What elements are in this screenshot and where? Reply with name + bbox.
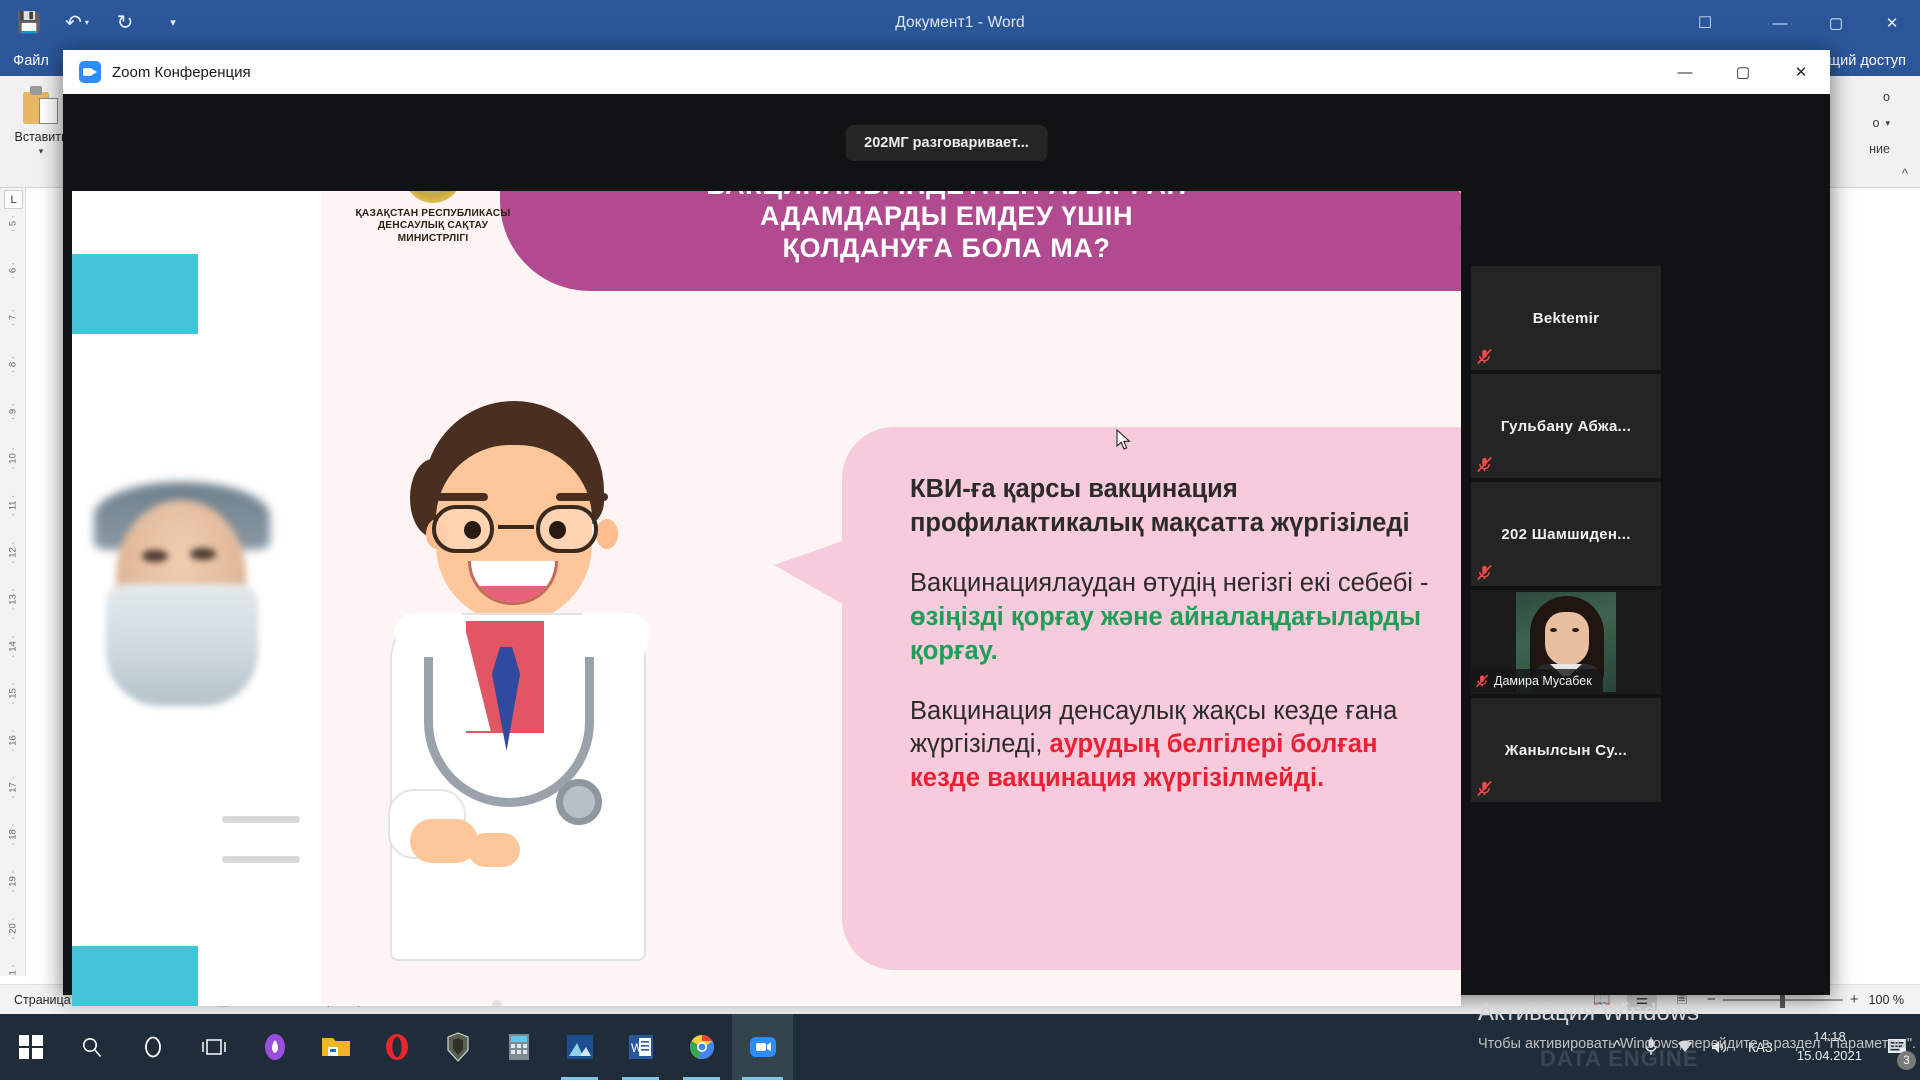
- cortana-icon[interactable]: [122, 1014, 183, 1080]
- zoom-meeting-window: Zoom Конференция — ▢ ✕ 202МГ разговарива…: [63, 50, 1830, 995]
- ruler-tick: · 14 ·: [8, 634, 19, 660]
- ruler-tick: · 20 ·: [8, 916, 19, 942]
- ruler-tick: · 19 ·: [8, 869, 19, 895]
- word-icon[interactable]: W: [610, 1014, 671, 1080]
- ruler-tick: · 13 ·: [8, 587, 19, 613]
- decor-teal-top: [72, 254, 198, 334]
- presentation-slide: ВАКЦИНАНЫ ІНДЕТПЕН АУЫРҒАН АДАМДАРДЫ ЕМД…: [322, 191, 1461, 1006]
- ministry-label-left: ҚАЗАҚСТАН РЕСПУБЛИКАСЫ ДЕНСАУЛЫҚ САҚТАУ …: [338, 208, 528, 245]
- app-drop-icon[interactable]: [244, 1014, 305, 1080]
- zoom-maximize-button[interactable]: ▢: [1714, 50, 1772, 94]
- decor-teal-bottom: [72, 946, 198, 1006]
- nurse-photo: [72, 332, 285, 789]
- participant-name: Гульбану Абжа...: [1495, 418, 1637, 435]
- slide-paragraph-2: Вакцинациялаудан өтудің негізгі екі себе…: [910, 567, 1451, 669]
- zoom-icon[interactable]: [732, 1014, 793, 1080]
- clock-date: 15.04.2021: [1797, 1047, 1862, 1066]
- shared-screen-view[interactable]: ВАКЦИНАНЫ ІНДЕТПЕН АУЫРҒАН АДАМДАРДЫ ЕМД…: [72, 191, 1461, 1006]
- svg-text:W: W: [631, 1041, 643, 1055]
- language-indicator[interactable]: КАЗ: [1736, 1040, 1785, 1055]
- participants-strip[interactable]: BektemirГульбану Абжа...202 Шамшиден...Д…: [1471, 266, 1661, 806]
- zoom-level-label[interactable]: 100 %: [1869, 993, 1904, 1007]
- kazakhstan-emblem-icon: [404, 191, 462, 203]
- task-view-icon[interactable]: [183, 1014, 244, 1080]
- calculator-icon[interactable]: [488, 1014, 549, 1080]
- maximize-button[interactable]: ▢: [1808, 0, 1864, 46]
- zoom-window-title: Zoom Конференция: [112, 64, 251, 81]
- header-line-0: ВАКЦИНАНЫ ІНДЕТПЕН АУЫРҒАН: [432, 191, 1461, 201]
- participant-tile[interactable]: Жанылсын Су...: [1471, 698, 1661, 802]
- participant-name: Дамира Мусабек: [1494, 674, 1592, 688]
- collapse-ribbon-icon[interactable]: ^: [1902, 166, 1908, 181]
- page-title: Документ1 - Word: [0, 0, 1920, 46]
- ruler-tick: · 7 ·: [8, 305, 19, 331]
- participant-name: 202 Шамшиден...: [1495, 526, 1636, 543]
- speech-bubble-tail: [774, 539, 848, 607]
- kazakhstan-emblem-icon: [1453, 191, 1461, 203]
- microphone-muted-icon: [1475, 779, 1494, 798]
- zoom-meeting-body: 202МГ разговаривает...: [63, 94, 1830, 995]
- notification-count-badge: 3: [1897, 1051, 1916, 1070]
- zoom-close-button[interactable]: ✕: [1772, 50, 1830, 94]
- ruler-tick: · 5 ·: [8, 211, 19, 237]
- doctor-illustration: [370, 401, 670, 961]
- ruler-tick: · 12 ·: [8, 540, 19, 566]
- microphone-muted-icon: [1475, 563, 1494, 582]
- minimize-button[interactable]: —: [1752, 0, 1808, 46]
- microphone-muted-icon: [1475, 347, 1494, 366]
- opera-icon[interactable]: [366, 1014, 427, 1080]
- doc-placeholder-line: [222, 816, 300, 823]
- slide-body-text: КВИ-ға қарсы вакцинация профилактикалық …: [910, 473, 1451, 822]
- wot-icon[interactable]: [427, 1014, 488, 1080]
- zoom-camera-icon: [79, 61, 101, 83]
- ruler-tick: · 10 ·: [8, 446, 19, 472]
- ruler-tick: · 6 ·: [8, 258, 19, 284]
- participant-name: Bektemir: [1527, 310, 1606, 327]
- ruler-tick: · 16 ·: [8, 728, 19, 754]
- participant-name-bar: Дамира Мусабек: [1471, 669, 1603, 692]
- participant-tile[interactable]: Bektemir: [1471, 266, 1661, 370]
- active-speaker-toast: 202МГ разговаривает...: [845, 125, 1048, 161]
- slide-paragraph-1: КВИ-ға қарсы вакцинация профилактикалық …: [910, 473, 1451, 541]
- windows-taskbar: W DATA ENGINE ^ КАЗ 14:18 15.04.2021: [0, 1014, 1920, 1080]
- tab-stop-selector[interactable]: L: [4, 190, 23, 209]
- header-line-2: ҚОЛДАНУҒА БОЛА МА?: [432, 233, 1461, 264]
- zoom-track[interactable]: [1723, 999, 1843, 1001]
- ministry-emblem-right: ҚАЗАҚ ДЕНСАУ ҰЛТТЫ: [1387, 191, 1461, 245]
- participant-tile[interactable]: 202 Шамшиден...: [1471, 482, 1661, 586]
- doc-placeholder-line: [222, 856, 300, 863]
- microphone-muted-icon: [1475, 455, 1494, 474]
- zoom-minimize-button[interactable]: —: [1656, 50, 1714, 94]
- ruler-tick: · 15 ·: [8, 681, 19, 707]
- chevron-down-icon: ▾: [1885, 118, 1890, 129]
- close-button[interactable]: ✕: [1864, 0, 1920, 46]
- microphone-icon[interactable]: [1634, 1014, 1668, 1080]
- clock-time: 14:18: [1797, 1028, 1862, 1047]
- participant-name: Жанылсын Су...: [1499, 742, 1633, 759]
- action-center-icon[interactable]: 3: [1874, 1014, 1920, 1080]
- zoom-in-button[interactable]: +: [1850, 991, 1859, 1008]
- tab-file[interactable]: Файл: [0, 46, 62, 76]
- clipboard-icon: [21, 86, 61, 128]
- word-window-controls: — ▢ ✕: [1752, 0, 1920, 46]
- ribbon-display-options-icon[interactable]: ☐: [1690, 8, 1720, 38]
- wifi-icon[interactable]: [1668, 1014, 1702, 1080]
- speaker-icon[interactable]: [1702, 1014, 1736, 1080]
- ministry-emblem-left: ҚАЗАҚСТАН РЕСПУБЛИКАСЫ ДЕНСАУЛЫҚ САҚТАУ …: [338, 191, 528, 245]
- ruler-tick: · 11 ·: [8, 493, 19, 519]
- header-line-1: АДАМДАРДЫ ЕМДЕУ ҮШІН: [432, 201, 1461, 232]
- ruler-tick: · 8 ·: [8, 352, 19, 378]
- chrome-icon[interactable]: [671, 1014, 732, 1080]
- slide-paragraph-3: Вакцинация денсаулық жақсы кезде ғана жү…: [910, 695, 1451, 797]
- glasses-icon: [426, 505, 604, 553]
- microphone-muted-icon: [1474, 673, 1490, 689]
- ruler-tick: · 21 ·: [8, 963, 19, 977]
- mouse-cursor: [1116, 429, 1132, 453]
- system-tray: ^ КАЗ 14:18 15.04.2021 3: [1600, 1014, 1920, 1080]
- ministry-label-right: ҚАЗАҚ ДЕНСАУ ҰЛТТЫ: [1387, 208, 1461, 245]
- shared-word-document: ВАКЦИНАНЫ ІНДЕТПЕН АУЫРҒАН АДАМДАРДЫ ЕМД…: [72, 191, 1461, 1006]
- clock[interactable]: 14:18 15.04.2021: [1785, 1028, 1874, 1066]
- ruler-tick: · 18 ·: [8, 822, 19, 848]
- photos-icon[interactable]: [549, 1014, 610, 1080]
- search-icon[interactable]: [61, 1014, 122, 1080]
- word-title-bar: 💾 ↶▾ ↻ ▾ Документ1 - Word ☐ — ▢ ✕: [0, 0, 1920, 46]
- start-icon[interactable]: [0, 1014, 61, 1080]
- vertical-ruler[interactable]: L · 5 ·· 6 ·· 7 ·· 8 ·· 9 ·· 10 ·· 11 ··…: [0, 188, 26, 976]
- screen-root: 💾 ↶▾ ↻ ▾ Документ1 - Word ☐ — ▢ ✕ Файл О…: [0, 0, 1920, 1080]
- participant-tile[interactable]: Дамира Мусабек: [1471, 590, 1661, 694]
- participant-tile[interactable]: Гульбану Абжа...: [1471, 374, 1661, 478]
- zoom-window-controls: — ▢ ✕: [1656, 50, 1830, 94]
- ruler-tick: · 9 ·: [8, 399, 19, 425]
- file-explorer-icon[interactable]: [305, 1014, 366, 1080]
- slide-header: ВАКЦИНАНЫ ІНДЕТПЕН АУЫРҒАН АДАМДАРДЫ ЕМД…: [322, 191, 1461, 291]
- chevron-up-icon[interactable]: ^: [1600, 1014, 1634, 1080]
- ruler-tick: · 17 ·: [8, 775, 19, 801]
- zoom-title-bar: Zoom Конференция — ▢ ✕: [63, 50, 1830, 94]
